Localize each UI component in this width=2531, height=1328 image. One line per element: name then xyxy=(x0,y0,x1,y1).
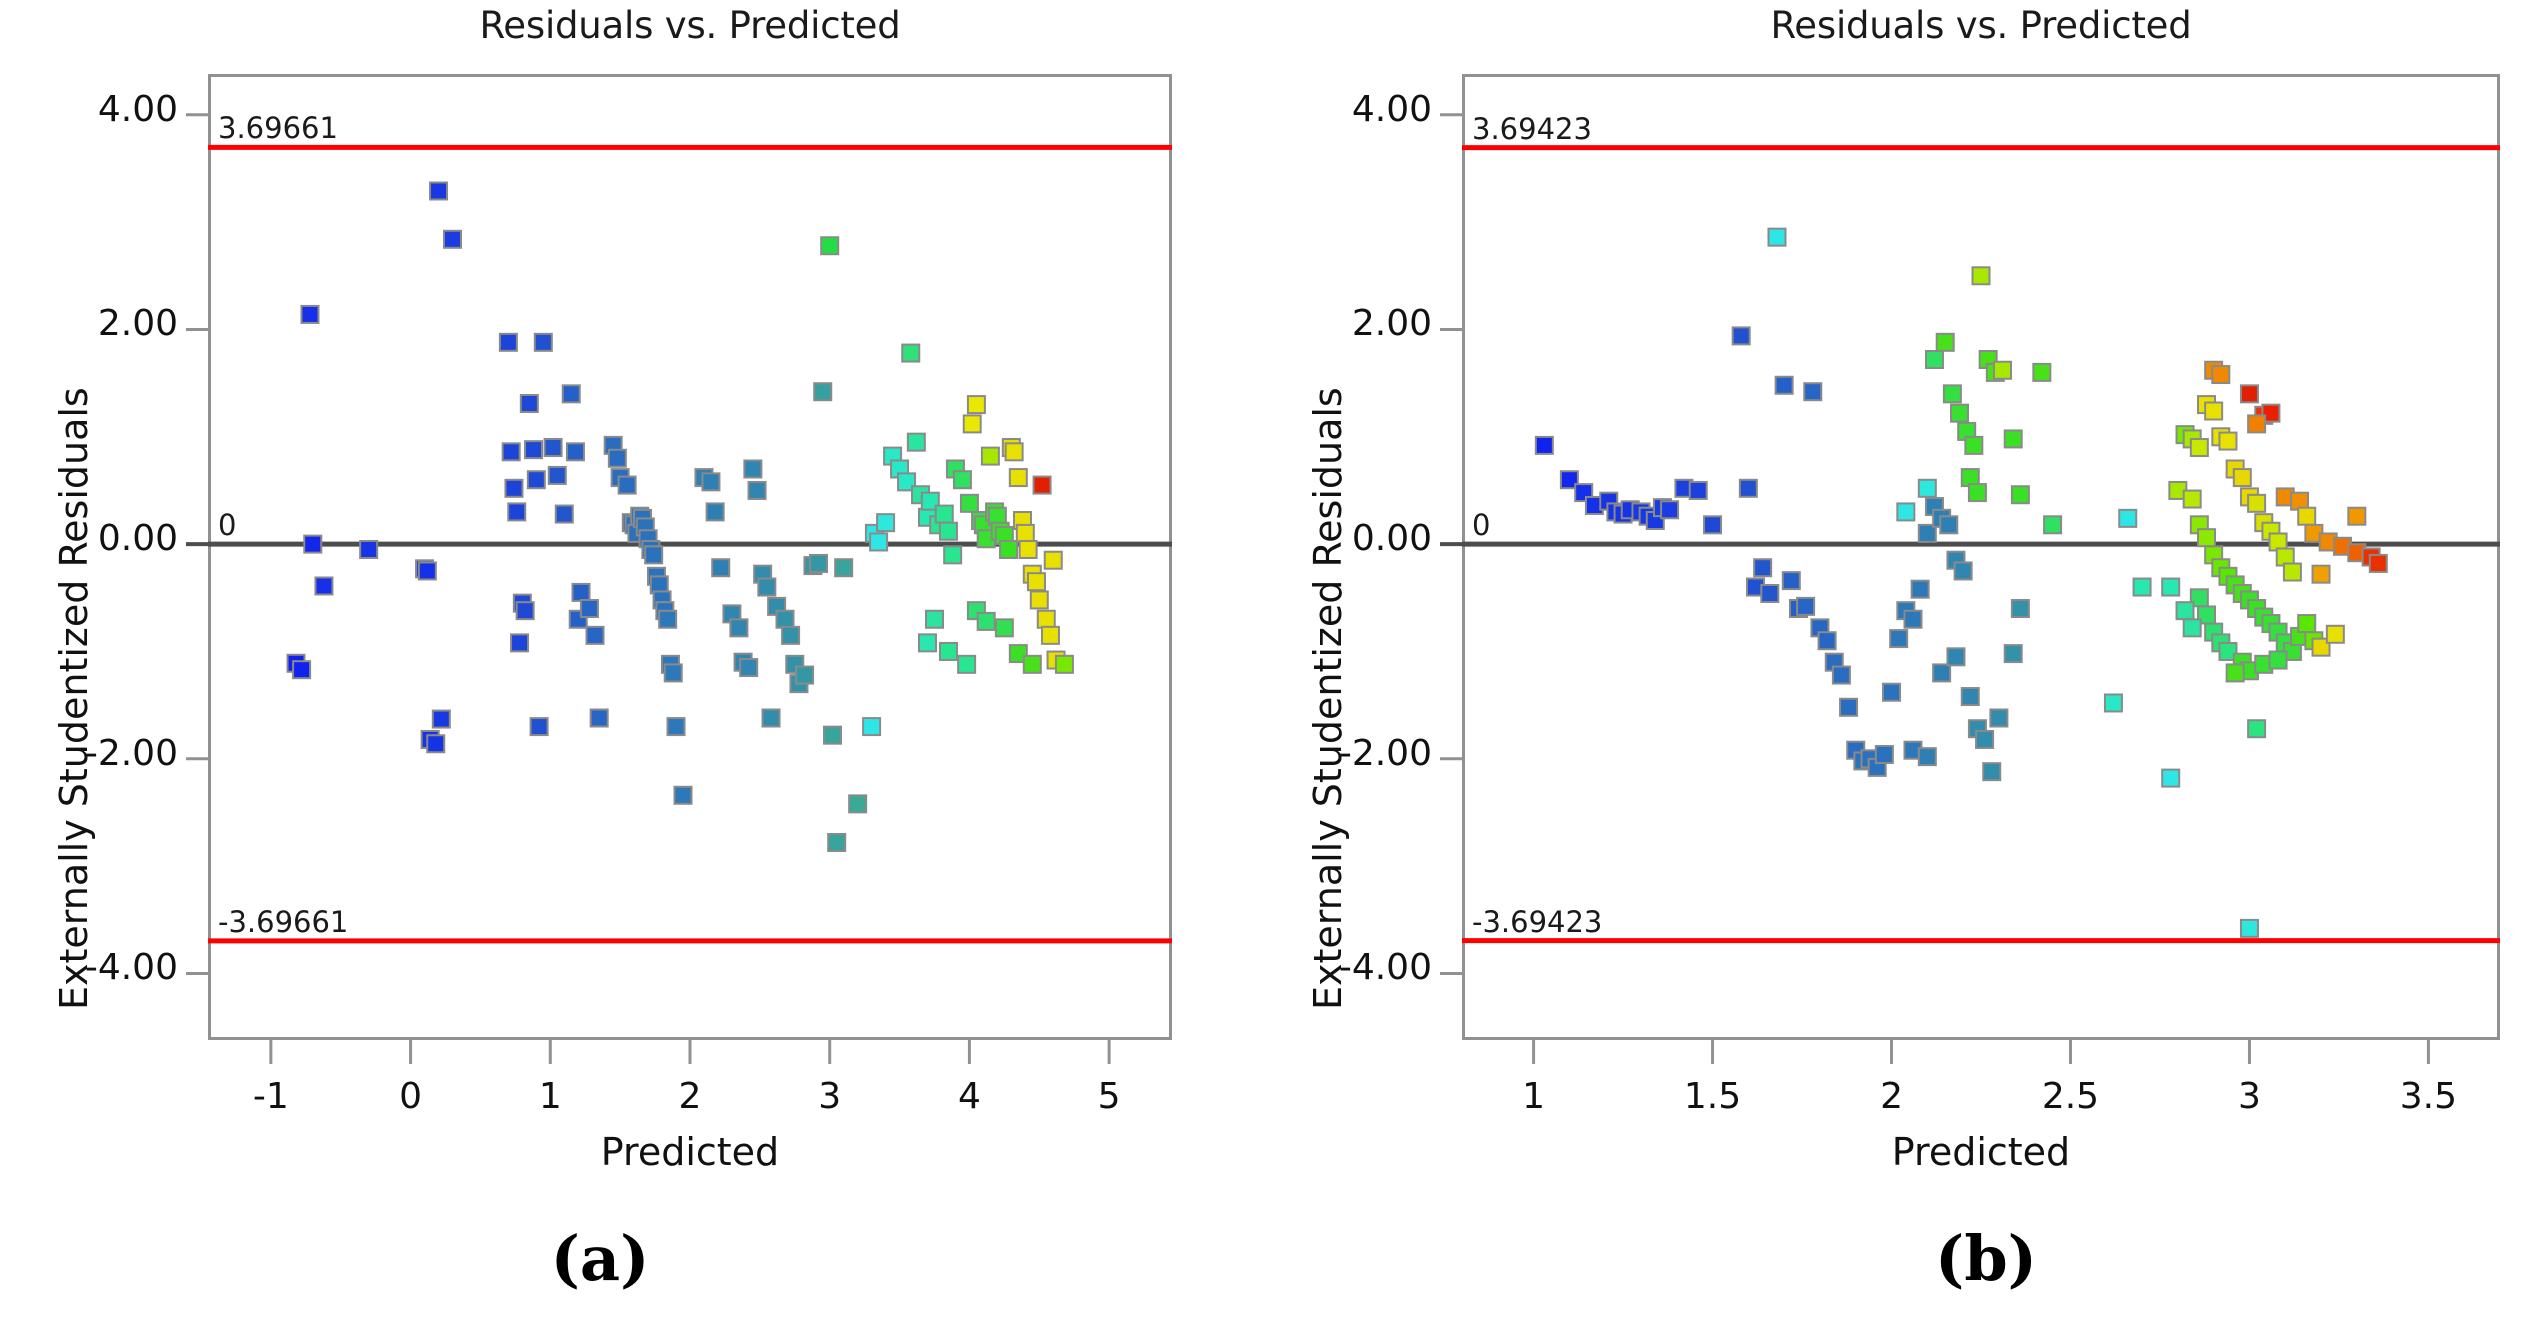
y-tick-label: 2.00 xyxy=(1242,303,1432,344)
data-point xyxy=(926,611,943,628)
data-point xyxy=(581,600,598,617)
data-point xyxy=(675,787,692,804)
data-point xyxy=(545,439,562,456)
data-point xyxy=(2234,469,2251,486)
data-point xyxy=(1754,559,1771,576)
data-point xyxy=(2191,439,2208,456)
data-point xyxy=(2105,694,2122,711)
data-point xyxy=(782,627,799,644)
data-point xyxy=(2212,366,2229,383)
data-point xyxy=(1017,525,1034,542)
y-tick-label: 0.00 xyxy=(1242,518,1432,559)
data-point xyxy=(2327,626,2344,643)
x-tick-label: -1 xyxy=(191,1076,351,1117)
y-axis-title-b: Externally Studentized Residuals xyxy=(1306,387,1350,1010)
figure-root: Residuals vs. Predicted Predicted Extern… xyxy=(0,0,2531,1328)
data-point xyxy=(2134,579,2151,596)
data-point xyxy=(2184,491,2201,508)
data-point xyxy=(2298,615,2315,632)
data-point xyxy=(1740,480,1757,497)
data-point xyxy=(1056,656,1073,673)
data-point xyxy=(2227,664,2244,681)
data-point xyxy=(419,562,436,579)
data-point xyxy=(1933,664,1950,681)
data-point xyxy=(940,523,957,540)
data-point xyxy=(1776,377,1793,394)
data-point xyxy=(961,495,978,512)
data-point xyxy=(954,471,971,488)
data-point xyxy=(1919,480,1936,497)
data-point xyxy=(1876,746,1893,763)
data-point xyxy=(301,306,318,323)
data-point xyxy=(936,506,953,523)
data-point xyxy=(2298,508,2315,525)
data-point xyxy=(2044,516,2061,533)
data-point xyxy=(609,450,626,467)
data-point xyxy=(796,667,813,684)
data-point xyxy=(2348,508,2365,525)
data-point xyxy=(944,546,961,563)
data-point xyxy=(1761,585,1778,602)
data-point xyxy=(2284,564,2301,581)
data-point xyxy=(1010,469,1027,486)
data-point xyxy=(2248,720,2265,737)
data-point xyxy=(1955,562,1972,579)
data-point xyxy=(665,664,682,681)
data-point xyxy=(1912,581,1929,598)
data-point xyxy=(1883,684,1900,701)
panel-a: Residuals vs. Predicted Predicted Extern… xyxy=(0,0,1265,1328)
data-point xyxy=(1024,656,1041,673)
data-point xyxy=(573,584,590,601)
data-point xyxy=(821,237,838,254)
data-point xyxy=(2219,433,2236,450)
data-point xyxy=(1833,667,1850,684)
data-point xyxy=(500,334,517,351)
data-point xyxy=(2198,529,2215,546)
data-point xyxy=(1034,477,1051,494)
data-point xyxy=(508,503,525,520)
data-point xyxy=(1783,572,1800,589)
data-point xyxy=(908,434,925,451)
data-point xyxy=(1976,731,1993,748)
data-point xyxy=(996,619,1013,636)
data-point xyxy=(2205,403,2222,420)
data-point xyxy=(1020,541,1037,558)
data-point xyxy=(2162,579,2179,596)
data-point xyxy=(982,448,999,465)
data-point xyxy=(315,577,332,594)
plot-canvas-b xyxy=(1266,0,2531,1328)
data-point xyxy=(2248,415,2265,432)
data-point xyxy=(1804,383,1821,400)
plot-canvas-a xyxy=(0,0,1265,1328)
data-point xyxy=(978,613,995,630)
x-tick-label: 4 xyxy=(889,1076,1049,1117)
data-point xyxy=(1937,334,1954,351)
data-point xyxy=(1904,611,1921,628)
data-point xyxy=(1944,385,1961,402)
y-tick-label: -2.00 xyxy=(0,733,178,774)
data-point xyxy=(433,711,450,728)
data-point xyxy=(749,482,766,499)
x-tick-label: 3 xyxy=(2169,1076,2329,1117)
data-point xyxy=(863,718,880,735)
data-point xyxy=(645,546,662,563)
data-point xyxy=(1994,362,2011,379)
data-point xyxy=(777,611,794,628)
data-point xyxy=(2248,495,2265,512)
data-point xyxy=(1969,484,1986,501)
data-point xyxy=(1840,699,1857,716)
data-point xyxy=(525,441,542,458)
data-point xyxy=(511,634,528,651)
data-point xyxy=(503,443,520,460)
data-point xyxy=(2005,430,2022,447)
data-point xyxy=(758,579,775,596)
data-point xyxy=(549,467,566,484)
y-axis-title-a: Externally Studentized Residuals xyxy=(52,387,96,1010)
data-point xyxy=(1536,437,1553,454)
x-tick-label: 3.5 xyxy=(2348,1076,2508,1117)
data-point xyxy=(2241,385,2258,402)
data-point xyxy=(1940,516,1957,533)
x-tick-label: 3 xyxy=(750,1076,910,1117)
lower-limit-label: -3.69661 xyxy=(218,905,348,939)
x-tick-label: 0 xyxy=(331,1076,491,1117)
data-point xyxy=(828,834,845,851)
data-point xyxy=(1661,501,1678,518)
x-tick-label: 1 xyxy=(1454,1076,1614,1117)
data-point xyxy=(556,506,573,523)
data-point xyxy=(877,514,894,531)
data-point xyxy=(517,602,534,619)
data-point xyxy=(870,533,887,550)
y-tick-label: -4.00 xyxy=(1242,947,1432,988)
data-point xyxy=(2012,600,2029,617)
panel-b: Residuals vs. Predicted Predicted Extern… xyxy=(1266,0,2531,1328)
data-point xyxy=(2370,555,2387,572)
data-point xyxy=(958,656,975,673)
data-point xyxy=(814,383,831,400)
data-point xyxy=(2119,510,2136,527)
data-point xyxy=(1947,648,1964,665)
data-point xyxy=(1890,630,1907,647)
data-point xyxy=(2270,652,2287,669)
subcaption-a: (a) xyxy=(470,1222,730,1295)
data-point xyxy=(2162,770,2179,787)
data-point xyxy=(668,718,685,735)
y-tick-label: 0.00 xyxy=(0,518,178,559)
data-point xyxy=(2033,364,2050,381)
y-tick-label: 4.00 xyxy=(1242,89,1432,130)
data-point xyxy=(293,661,310,678)
data-point xyxy=(1973,267,1990,284)
data-point xyxy=(1951,405,1968,422)
data-point xyxy=(919,634,936,651)
data-point xyxy=(1031,591,1048,608)
x-axis-title-a: Predicted xyxy=(208,1130,1172,1174)
zero-line-label: 0 xyxy=(218,508,236,542)
data-point xyxy=(1819,632,1836,649)
data-point xyxy=(835,559,852,576)
y-tick-label: 4.00 xyxy=(0,89,178,130)
data-point xyxy=(528,471,545,488)
data-point xyxy=(1768,229,1785,246)
data-point xyxy=(563,385,580,402)
data-point xyxy=(968,396,985,413)
data-point xyxy=(810,555,827,572)
data-point xyxy=(1983,763,2000,780)
y-tick-label: -4.00 xyxy=(0,947,178,988)
zero-line-label: 0 xyxy=(1472,508,1490,542)
subcaption-b: (b) xyxy=(1856,1222,2116,1295)
x-tick-label: 2 xyxy=(1812,1076,1972,1117)
data-point xyxy=(1028,573,1045,590)
data-point xyxy=(591,710,608,727)
data-point xyxy=(744,460,761,477)
data-point xyxy=(1704,516,1721,533)
upper-limit-label: 3.69661 xyxy=(218,111,338,145)
data-point xyxy=(707,503,724,520)
data-point xyxy=(1962,688,1979,705)
x-axis-title-b: Predicted xyxy=(1462,1130,2500,1174)
data-point xyxy=(763,710,780,727)
data-point xyxy=(430,182,447,199)
data-point xyxy=(730,619,747,636)
data-point xyxy=(849,795,866,812)
data-point xyxy=(1038,611,1055,628)
data-point xyxy=(444,231,461,248)
data-point xyxy=(1690,482,1707,499)
data-point xyxy=(659,611,676,628)
data-point xyxy=(2241,920,2258,937)
x-tick-label: 5 xyxy=(1029,1076,1189,1117)
data-point xyxy=(1990,710,2007,727)
data-point xyxy=(712,559,729,576)
y-tick-label: 2.00 xyxy=(0,303,178,344)
x-tick-label: 2 xyxy=(610,1076,770,1117)
data-point xyxy=(1965,437,1982,454)
data-point xyxy=(1733,327,1750,344)
data-point xyxy=(1000,541,1017,558)
data-point xyxy=(702,473,719,490)
data-point xyxy=(2012,486,2029,503)
data-point xyxy=(1797,598,1814,615)
data-point xyxy=(1919,748,1936,765)
data-point xyxy=(567,443,584,460)
data-point xyxy=(2005,645,2022,662)
lower-limit-label: -3.69423 xyxy=(1472,905,1602,939)
data-point xyxy=(2313,566,2330,583)
x-tick-label: 1.5 xyxy=(1633,1076,1793,1117)
data-point xyxy=(304,536,321,553)
data-point xyxy=(1006,443,1023,460)
data-point xyxy=(619,477,636,494)
upper-limit-label: 3.69423 xyxy=(1472,112,1592,146)
data-point xyxy=(535,334,552,351)
data-point xyxy=(740,659,757,676)
data-point xyxy=(1045,552,1062,569)
data-point xyxy=(360,541,377,558)
data-point xyxy=(586,627,603,644)
data-point xyxy=(824,727,841,744)
data-point xyxy=(1926,351,1943,368)
data-point xyxy=(521,395,538,412)
x-tick-label: 1 xyxy=(470,1076,630,1117)
data-point xyxy=(940,643,957,660)
x-tick-label: 2.5 xyxy=(1990,1076,2150,1117)
data-point xyxy=(505,480,522,497)
data-point xyxy=(1897,503,1914,520)
data-point xyxy=(427,735,444,752)
data-point xyxy=(964,415,981,432)
y-tick-label: -2.00 xyxy=(1242,733,1432,774)
data-point xyxy=(902,345,919,362)
data-point xyxy=(531,718,548,735)
data-point xyxy=(1042,627,1059,644)
data-point xyxy=(2184,619,2201,636)
data-point xyxy=(2177,602,2194,619)
